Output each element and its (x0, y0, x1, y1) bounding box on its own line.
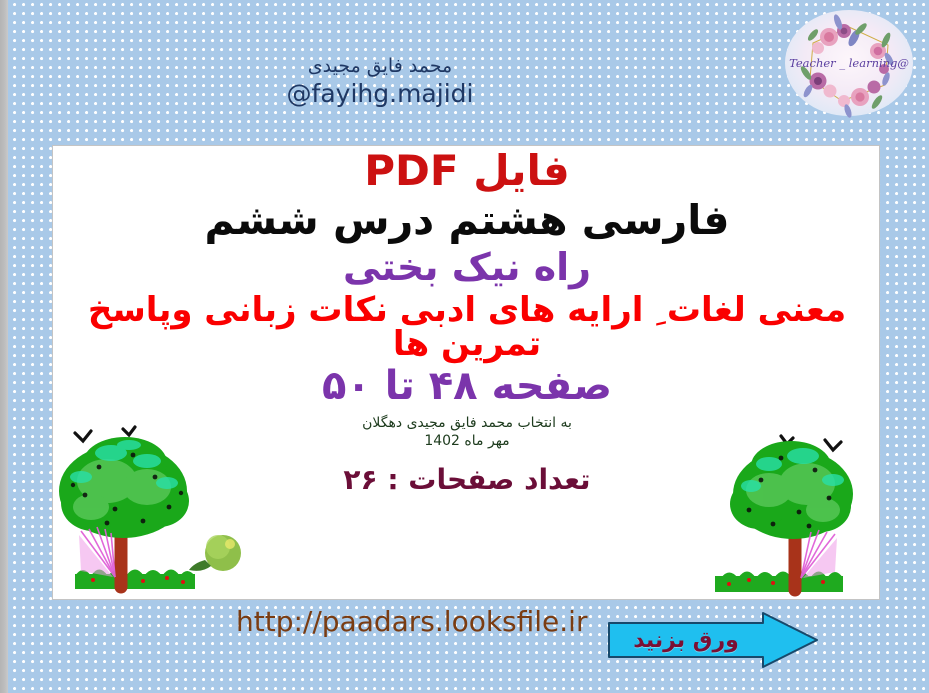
page-count: تعداد صفحات : ۲۶ (53, 463, 880, 496)
apple-icon (189, 535, 241, 571)
page-count-value: ۲۶ (343, 463, 377, 496)
author-handle: @fayihg.majidi (0, 79, 760, 109)
description-line-2: تمرین ها (53, 327, 880, 362)
logo-label: @Teacher _ learning (789, 56, 909, 70)
header: محمد فایق مجیدی @fayihg.majidi (0, 55, 760, 109)
page-count-label: تعداد صفحات : (387, 463, 590, 496)
pdf-title: فایل PDF (53, 150, 880, 193)
credit-year: 1402 (424, 433, 460, 449)
next-page-button[interactable]: ورق بزنید (607, 611, 819, 669)
title-block: فایل PDF فارسی هشتم درس ششم راه نیک بختی… (53, 146, 880, 496)
site-url-link[interactable]: http://paadars.looksfile.ir (236, 605, 587, 638)
next-page-button-label: ورق بزنید (607, 611, 765, 669)
pdf-title-latin: PDF (364, 146, 458, 195)
course-line: فارسی هشتم درس ششم (53, 200, 880, 242)
credit-date: مهر ماه 1402 (53, 432, 880, 451)
content-card: فایل PDF فارسی هشتم درس ششم راه نیک بختی… (52, 145, 880, 600)
credit-line-1: به انتخاب محمد فایق مجیدی دهگلان (53, 414, 880, 433)
pdf-title-prefix: فایل (473, 146, 570, 195)
floral-wreath-logo[interactable]: @Teacher _ learning (782, 7, 916, 120)
lesson-title: راه نیک بختی (53, 248, 880, 287)
credit-month: مهر ماه (464, 433, 509, 449)
left-edge-strip (0, 0, 8, 693)
description-line-1: معنی لغات ِ ارایه های ادبی نکات زبانی وپ… (53, 293, 880, 328)
page-range: صفحه ۴۸ تا ۵۰ (53, 366, 880, 407)
credits-block: به انتخاب محمد فایق مجیدی دهگلان مهر ماه… (53, 414, 880, 452)
author-name: محمد فایق مجیدی (0, 55, 760, 77)
slide-canvas: محمد فایق مجیدی @fayihg.majidi (0, 0, 929, 693)
